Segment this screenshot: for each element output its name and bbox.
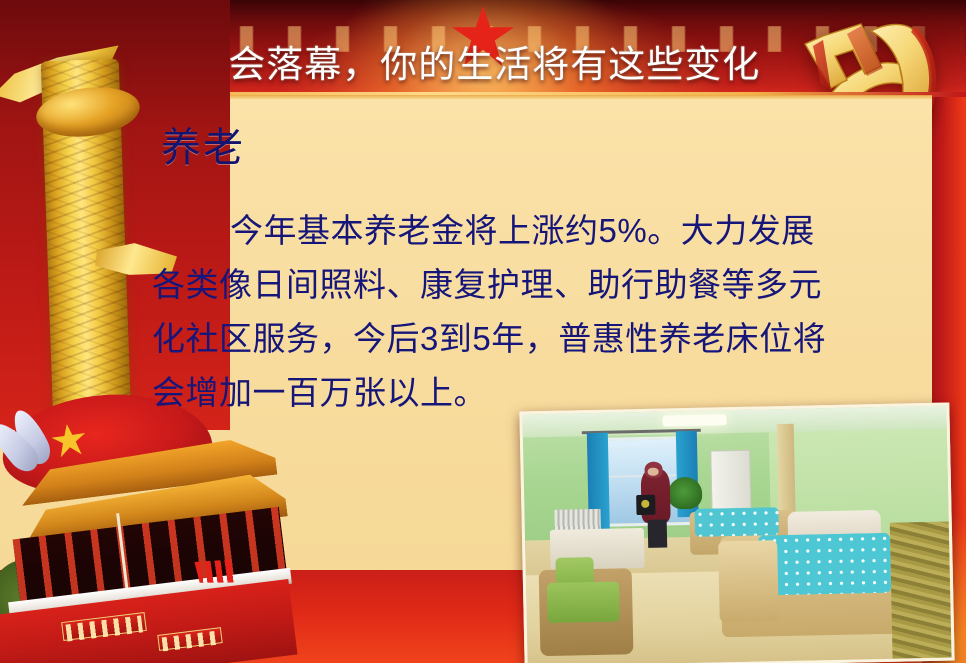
presentation-slide: 2019两会落幕，你的生活将有这些变化 (0, 0, 966, 663)
photo-quilt-far (694, 507, 779, 536)
photo-plant (668, 476, 703, 509)
photo-armchair-seat (547, 581, 620, 623)
section-heading: 养老 (161, 128, 245, 168)
photo-person-face (648, 468, 659, 476)
body-line-3: 化社区服务，今后3到5年，普惠性养老床位将 (152, 312, 910, 366)
body-line-4: 会增加一百万张以上。 (152, 366, 910, 420)
body-paragraph: 今年基本养老金将上涨约5%。大力发展 各类像日间照料、康复护理、助行助餐等多元 … (152, 204, 910, 420)
body-line-1: 今年基本养老金将上涨约5%。大力发展 (152, 204, 910, 258)
photo-person-legs (648, 520, 668, 548)
photo-footboard (718, 540, 779, 622)
elderly-care-room-photo (519, 403, 954, 663)
body-line-2: 各类像日间照料、康复护理、助行助餐等多元 (152, 258, 910, 312)
photo-wood-panel (889, 521, 951, 658)
